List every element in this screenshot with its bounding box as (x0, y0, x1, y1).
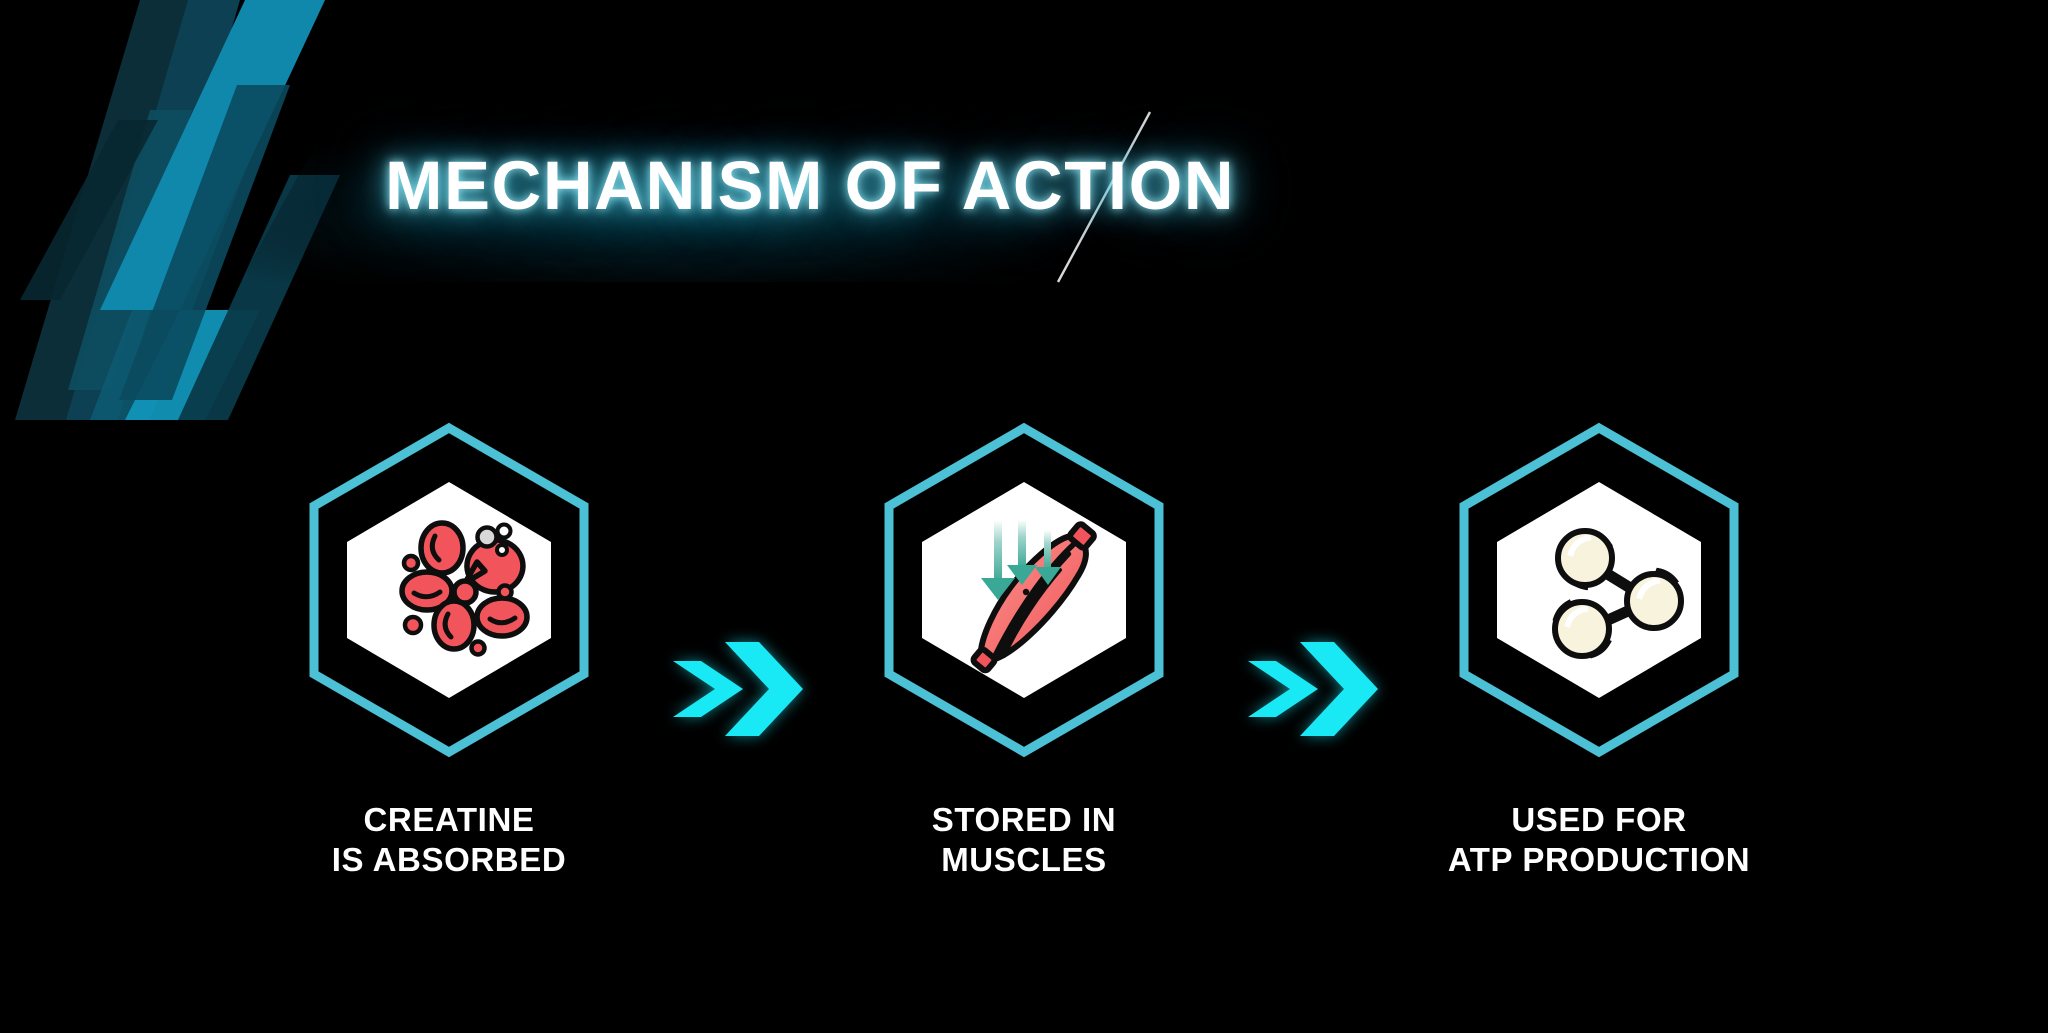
step-label-1: CREATINE IS ABSORBED (332, 800, 567, 881)
connector-1 (649, 390, 824, 790)
muscle-icon (874, 420, 1174, 760)
step-used-for-atp-production[interactable]: USED FOR ATP PRODUCTION (1399, 390, 1799, 881)
chevron-small (1248, 661, 1318, 717)
stripe-dark-2 (66, 0, 240, 420)
process-steps-row: CREATINE IS ABSORBED (0, 390, 2048, 950)
hexagon-badge-1 (269, 390, 629, 790)
step-stored-in-muscles[interactable]: STORED IN MUSCLES (824, 390, 1224, 881)
atom-right (1627, 570, 1681, 628)
connector-2 (1224, 390, 1399, 790)
hexagon-badge-2 (844, 390, 1204, 790)
platelet-lower-left (405, 617, 421, 633)
platelet-right-top (499, 586, 512, 599)
stripe-mid-4 (90, 80, 280, 420)
step-label-3: USED FOR ATP PRODUCTION (1448, 800, 1750, 881)
stripe-faint-7 (20, 120, 158, 300)
double-chevron-right-icon (1242, 634, 1382, 744)
molecule-icon (1449, 420, 1749, 760)
slide-canvas: MECHANISM OF ACTION (0, 0, 2048, 1033)
hexagon-badge-3 (1419, 390, 1779, 790)
platelet-center (454, 581, 476, 603)
rbc-upper-left (421, 523, 463, 573)
blood-cells-icon (299, 420, 599, 760)
step-creatine-is-absorbed[interactable]: CREATINE IS ABSORBED (249, 390, 649, 881)
platelet-upper-left (404, 556, 418, 570)
atom-bottom-left (1555, 602, 1609, 656)
page-title: MECHANISM OF ACTION (385, 140, 1385, 230)
stripe-dark-6 (178, 175, 340, 420)
stripe-faint-1 (15, 0, 205, 420)
chevron-small (673, 661, 743, 717)
rbc-right (477, 598, 527, 636)
muscle-dot (1023, 589, 1029, 595)
step-label-2: STORED IN MUSCLES (932, 800, 1116, 881)
platelet-bottom (472, 642, 485, 655)
stripe-faint-3 (68, 110, 192, 390)
leukocyte-nucleus-large (478, 528, 497, 547)
stripe-dark-5 (119, 85, 290, 400)
stripe-bright-main (100, 0, 325, 310)
rbc-bottom-mid (434, 601, 474, 649)
leukocyte-nucleus-small (498, 525, 511, 538)
leukocyte-nucleus-tiny (497, 545, 507, 555)
atom-top-left (1558, 531, 1612, 588)
double-chevron-right-icon (667, 634, 807, 744)
